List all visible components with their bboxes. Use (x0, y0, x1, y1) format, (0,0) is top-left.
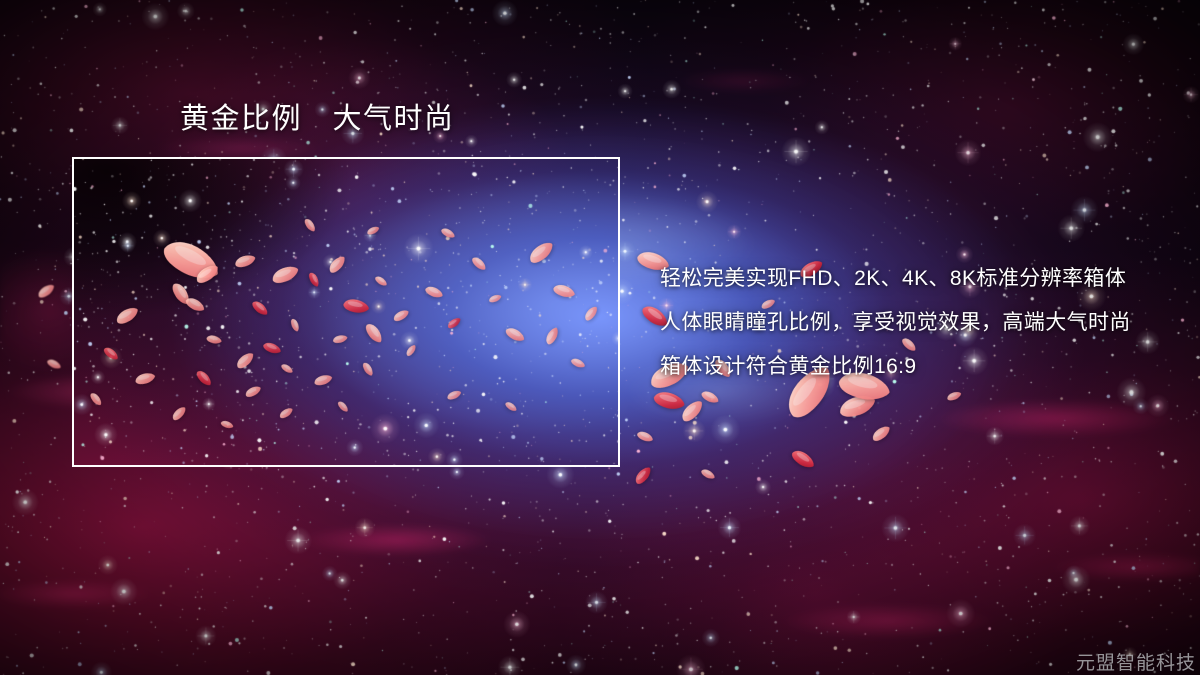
petal (650, 388, 687, 414)
petal (826, 388, 887, 425)
petal (632, 464, 655, 488)
slide-canvas: 黄金比例 大气时尚 轻松完美实现FHD、2K、4K、8K标准分辨率箱体 人体眼睛… (0, 0, 1200, 675)
body-line-3: 箱体设计符合黄金比例16:9 (660, 345, 1180, 389)
petal (869, 423, 893, 445)
body-text-block: 轻松完美实现FHD、2K、4K、8K标准分辨率箱体 人体眼睛瞳孔比例，享受视觉效… (660, 257, 1180, 389)
petal (945, 390, 963, 403)
petal (635, 429, 655, 445)
petal (699, 467, 717, 482)
frame-starfield (74, 159, 618, 465)
body-line-1: 轻松完美实现FHD、2K、4K、8K标准分辨率箱体 (660, 257, 1180, 301)
watermark: 元盟智能科技 (1076, 648, 1196, 675)
petal (35, 281, 57, 300)
petal (699, 388, 721, 406)
galaxy-preview-frame[interactable] (72, 157, 620, 467)
petal (45, 357, 63, 372)
page-title: 黄金比例 大气时尚 (180, 102, 455, 136)
petal (677, 396, 707, 426)
body-line-2: 人体眼睛瞳孔比例，享受视觉效果，高端大气时尚 (660, 301, 1180, 345)
frame-content (74, 159, 618, 465)
petal (788, 446, 817, 472)
